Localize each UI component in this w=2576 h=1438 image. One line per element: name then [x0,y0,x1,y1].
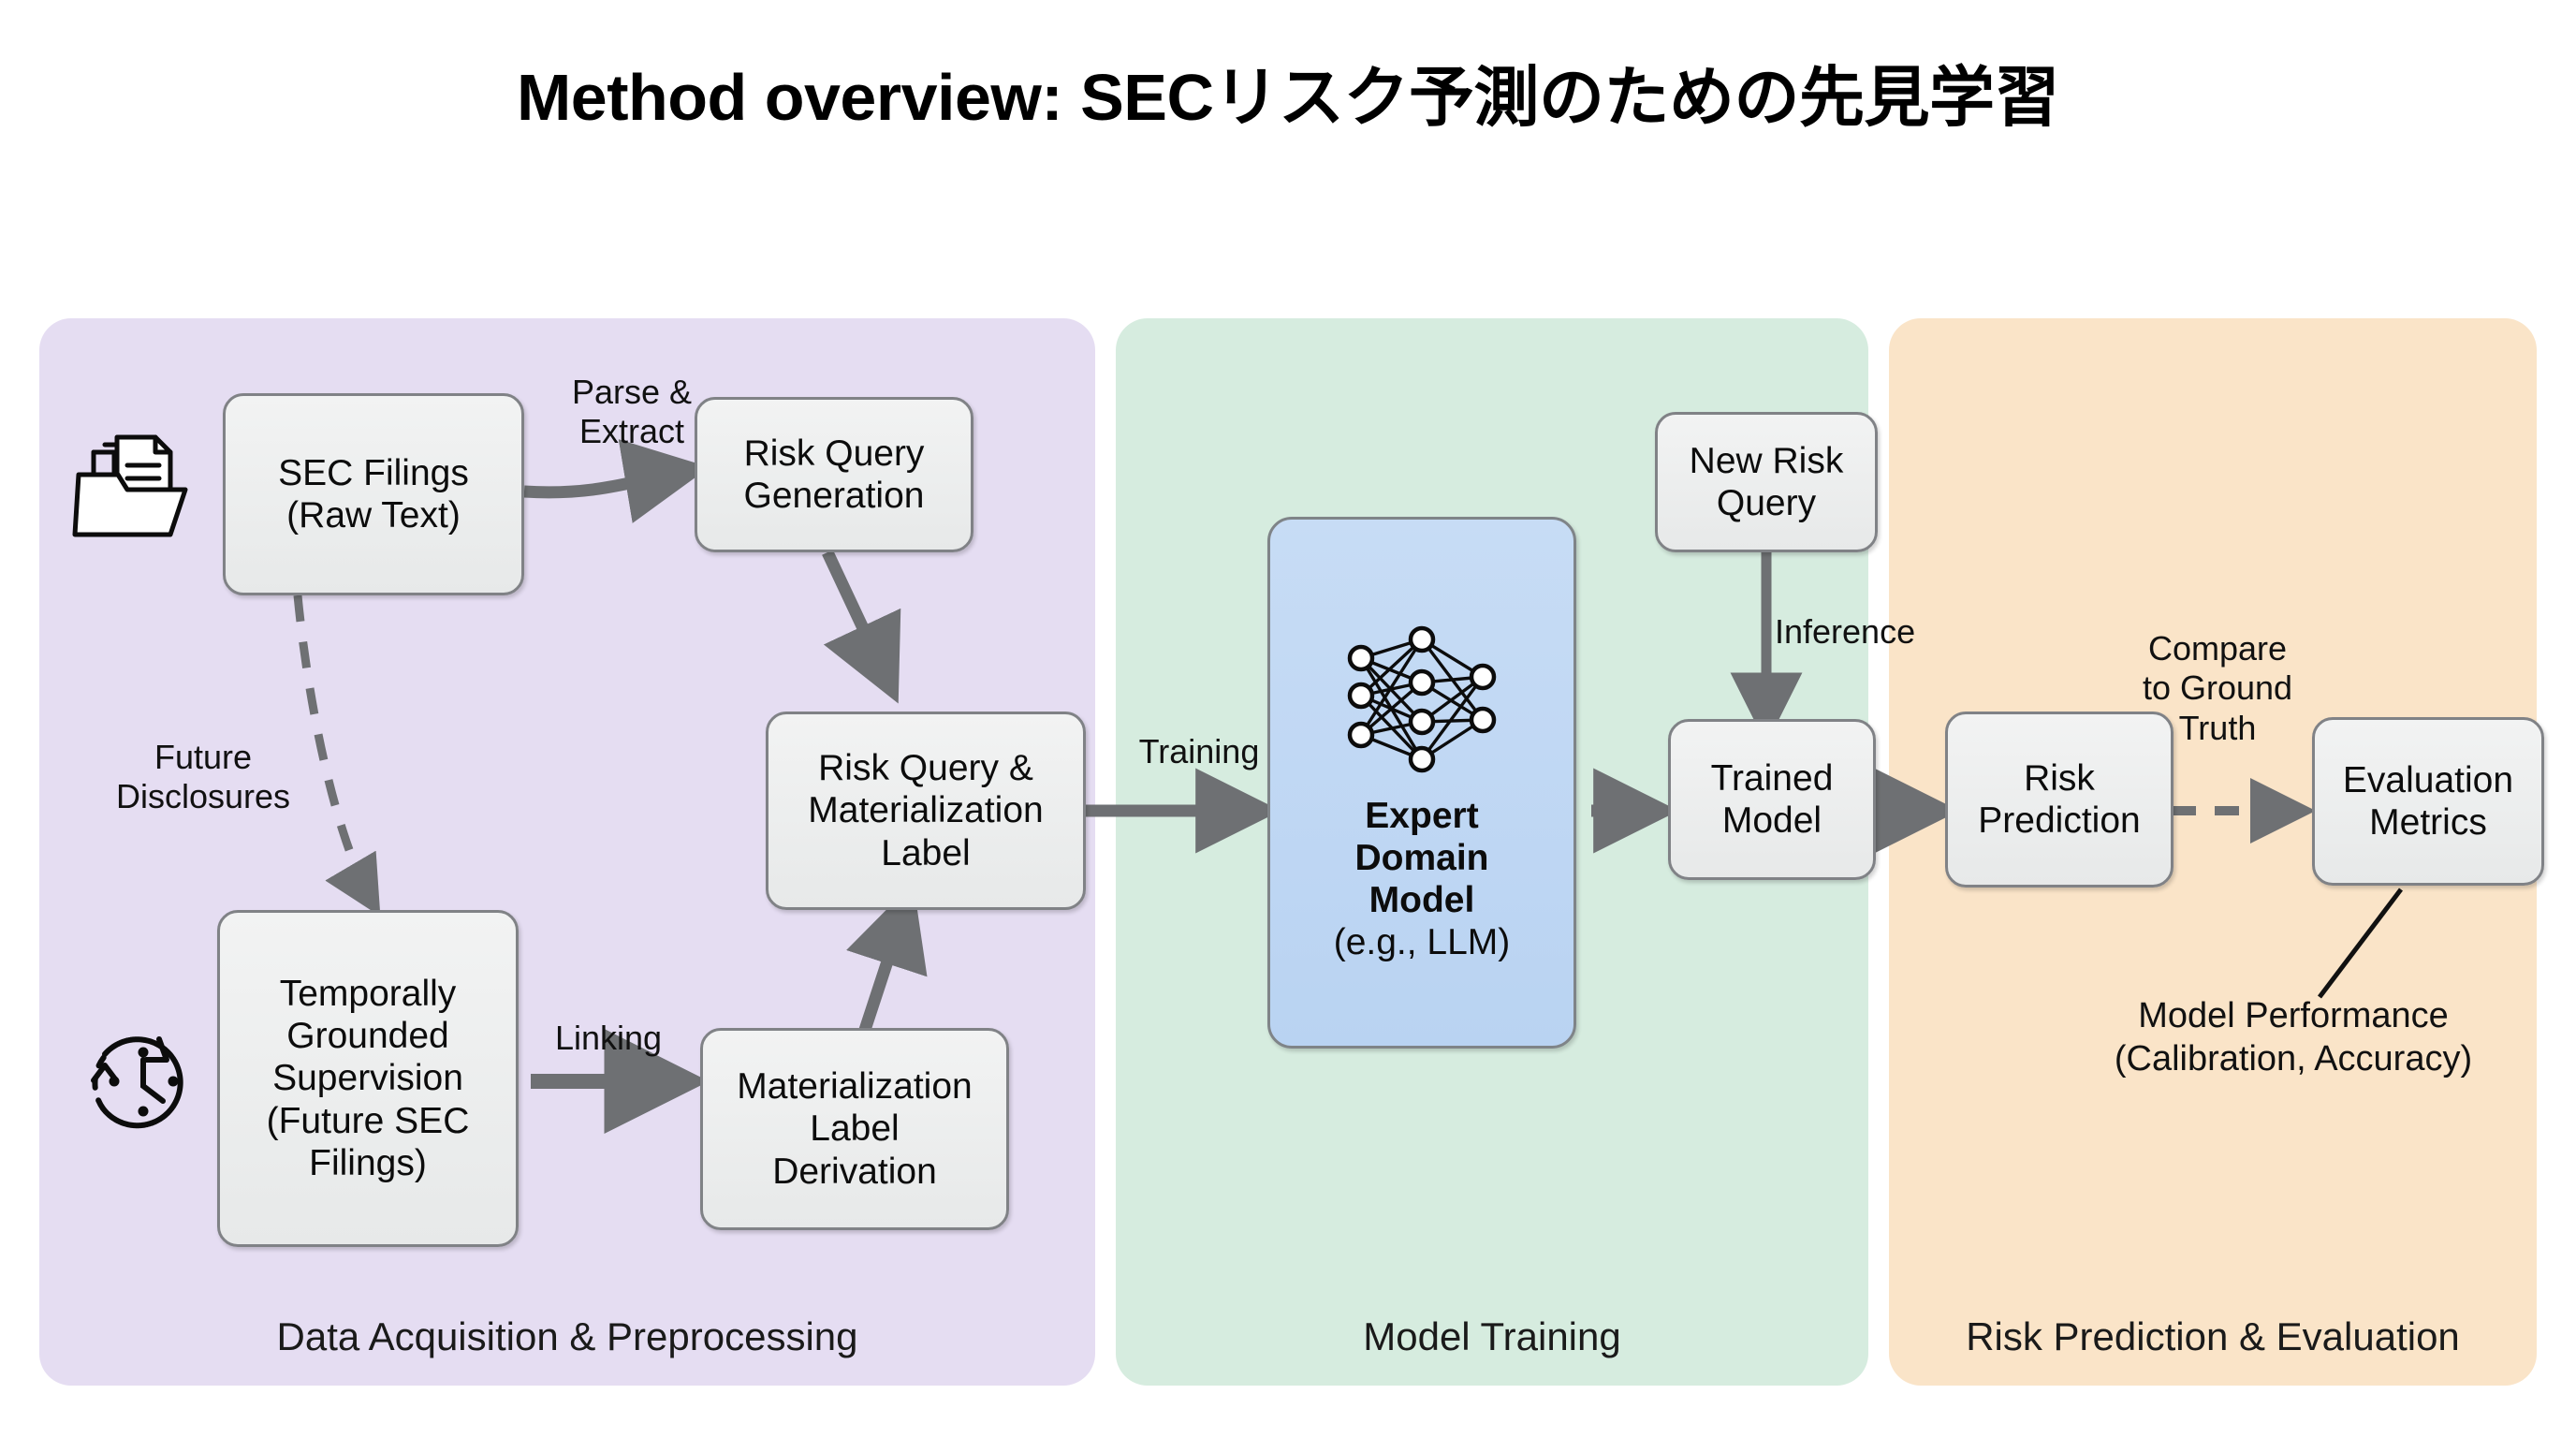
node-new-risk-query-line1: New Risk [1690,441,1844,481]
node-evaluation-metrics-line1: Evaluation [2343,760,2513,800]
edge-label-training: Training [1120,732,1279,771]
edge-label-inference: Inference [1775,612,1981,652]
node-new-risk-query-line2: Query [1717,483,1816,523]
node-mat-label-derivation-line1: Materialization [737,1066,972,1107]
edge-label-future-disclosures: Future Disclosures [79,738,328,817]
node-sec-filings[interactable]: SEC Filings (Raw Text) [223,393,524,595]
node-trained-model-line1: Trained [1711,758,1834,799]
node-risk-prediction-line1: Risk [2024,758,2095,799]
node-risk-query-label-line2: Materialization [808,790,1043,830]
node-mat-label-derivation-line2: Label [810,1108,899,1149]
node-risk-prediction-line2: Prediction [1978,800,2140,841]
node-mat-label-derivation-line3: Derivation [772,1152,937,1192]
diagram-canvas: Method overview: SECリスク予測のための先見学習 Data A… [0,0,2576,1438]
edge-label-compare-to-ground-truth: Compare to Ground Truth [2095,629,2340,748]
node-risk-query-label-line3: Label [881,833,970,873]
node-trained-model-line2: Model [1722,800,1822,841]
node-evaluation-metrics[interactable]: Evaluation Metrics [2312,717,2544,886]
node-temporal-supervision-line1: Temporally [280,974,457,1014]
node-expert-domain-model-line1: Expert [1365,796,1478,836]
node-risk-query-generation-line1: Risk Query [744,433,925,474]
node-expert-domain-model-line3: Model [1369,880,1475,920]
node-sec-filings-line1: SEC Filings [278,453,469,493]
node-expert-domain-model[interactable]: Expert Domain Model (e.g., LLM) [1267,517,1576,1049]
page-title: Method overview: SECリスク予測のための先見学習 [0,62,2576,134]
documents-folder-icon [66,426,197,548]
neural-network-icon [1333,619,1511,778]
time-history-icon [73,1011,213,1152]
node-temporally-grounded-supervision[interactable]: Temporally Grounded Supervision (Future … [217,910,519,1247]
annotation-model-performance: Model Performance (Calibration, Accuracy… [2041,994,2546,1081]
panel-data-acquisition-label: Data Acquisition & Preprocessing [39,1314,1095,1359]
node-materialization-label-derivation[interactable]: Materialization Label Derivation [700,1028,1009,1230]
node-trained-model[interactable]: Trained Model [1668,719,1876,880]
node-temporal-supervision-line5: Filings) [309,1143,427,1183]
node-new-risk-query[interactable]: New Risk Query [1655,412,1878,552]
node-temporal-supervision-line4: (Future SEC [267,1101,470,1141]
node-risk-query-materialization-label[interactable]: Risk Query & Materialization Label [766,712,1086,910]
node-evaluation-metrics-line2: Metrics [2369,802,2487,843]
node-expert-domain-model-line2: Domain [1354,838,1488,878]
panel-risk-prediction-evaluation-label: Risk Prediction & Evaluation [1889,1314,2537,1359]
node-expert-domain-model-sub: (e.g., LLM) [1334,922,1511,962]
node-temporal-supervision-line3: Supervision [272,1058,463,1098]
node-temporal-supervision-line2: Grounded [286,1016,448,1056]
node-sec-filings-line2: (Raw Text) [286,495,461,536]
panel-model-training-label: Model Training [1116,1314,1868,1359]
edge-label-linking: Linking [524,1019,693,1058]
node-risk-query-label-line1: Risk Query & [818,748,1033,788]
node-risk-query-generation-line2: Generation [744,476,925,516]
edge-label-parse-extract: Parse & Extract [524,373,739,452]
